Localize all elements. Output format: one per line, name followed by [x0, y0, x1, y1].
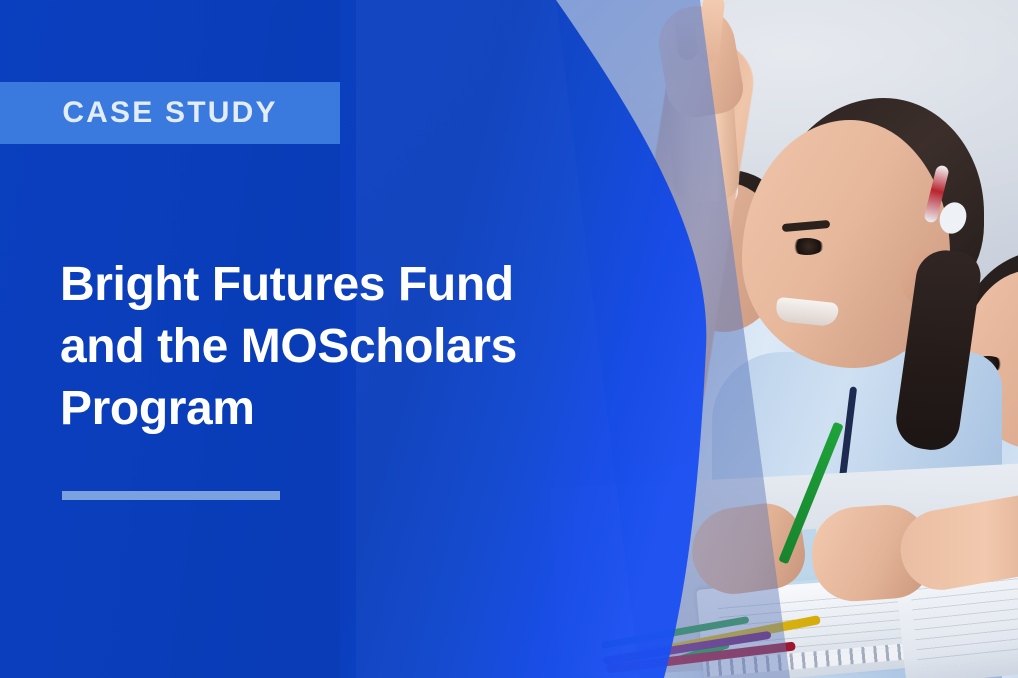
- page-title: Bright Futures Fund and the MOScholars P…: [60, 254, 620, 440]
- case-study-badge: CASE STUDY: [0, 82, 340, 144]
- page-title-line-3: Program: [60, 378, 620, 440]
- title-divider-rule: [62, 491, 280, 500]
- page-title-line-2: and the MOScholars: [60, 316, 620, 378]
- case-study-badge-label: CASE STUDY: [62, 98, 277, 128]
- case-study-banner: CASE STUDY Bright Futures Fund and the M…: [0, 0, 1018, 678]
- banner-content: CASE STUDY Bright Futures Fund and the M…: [0, 0, 1018, 678]
- page-title-line-1: Bright Futures Fund: [60, 254, 620, 316]
